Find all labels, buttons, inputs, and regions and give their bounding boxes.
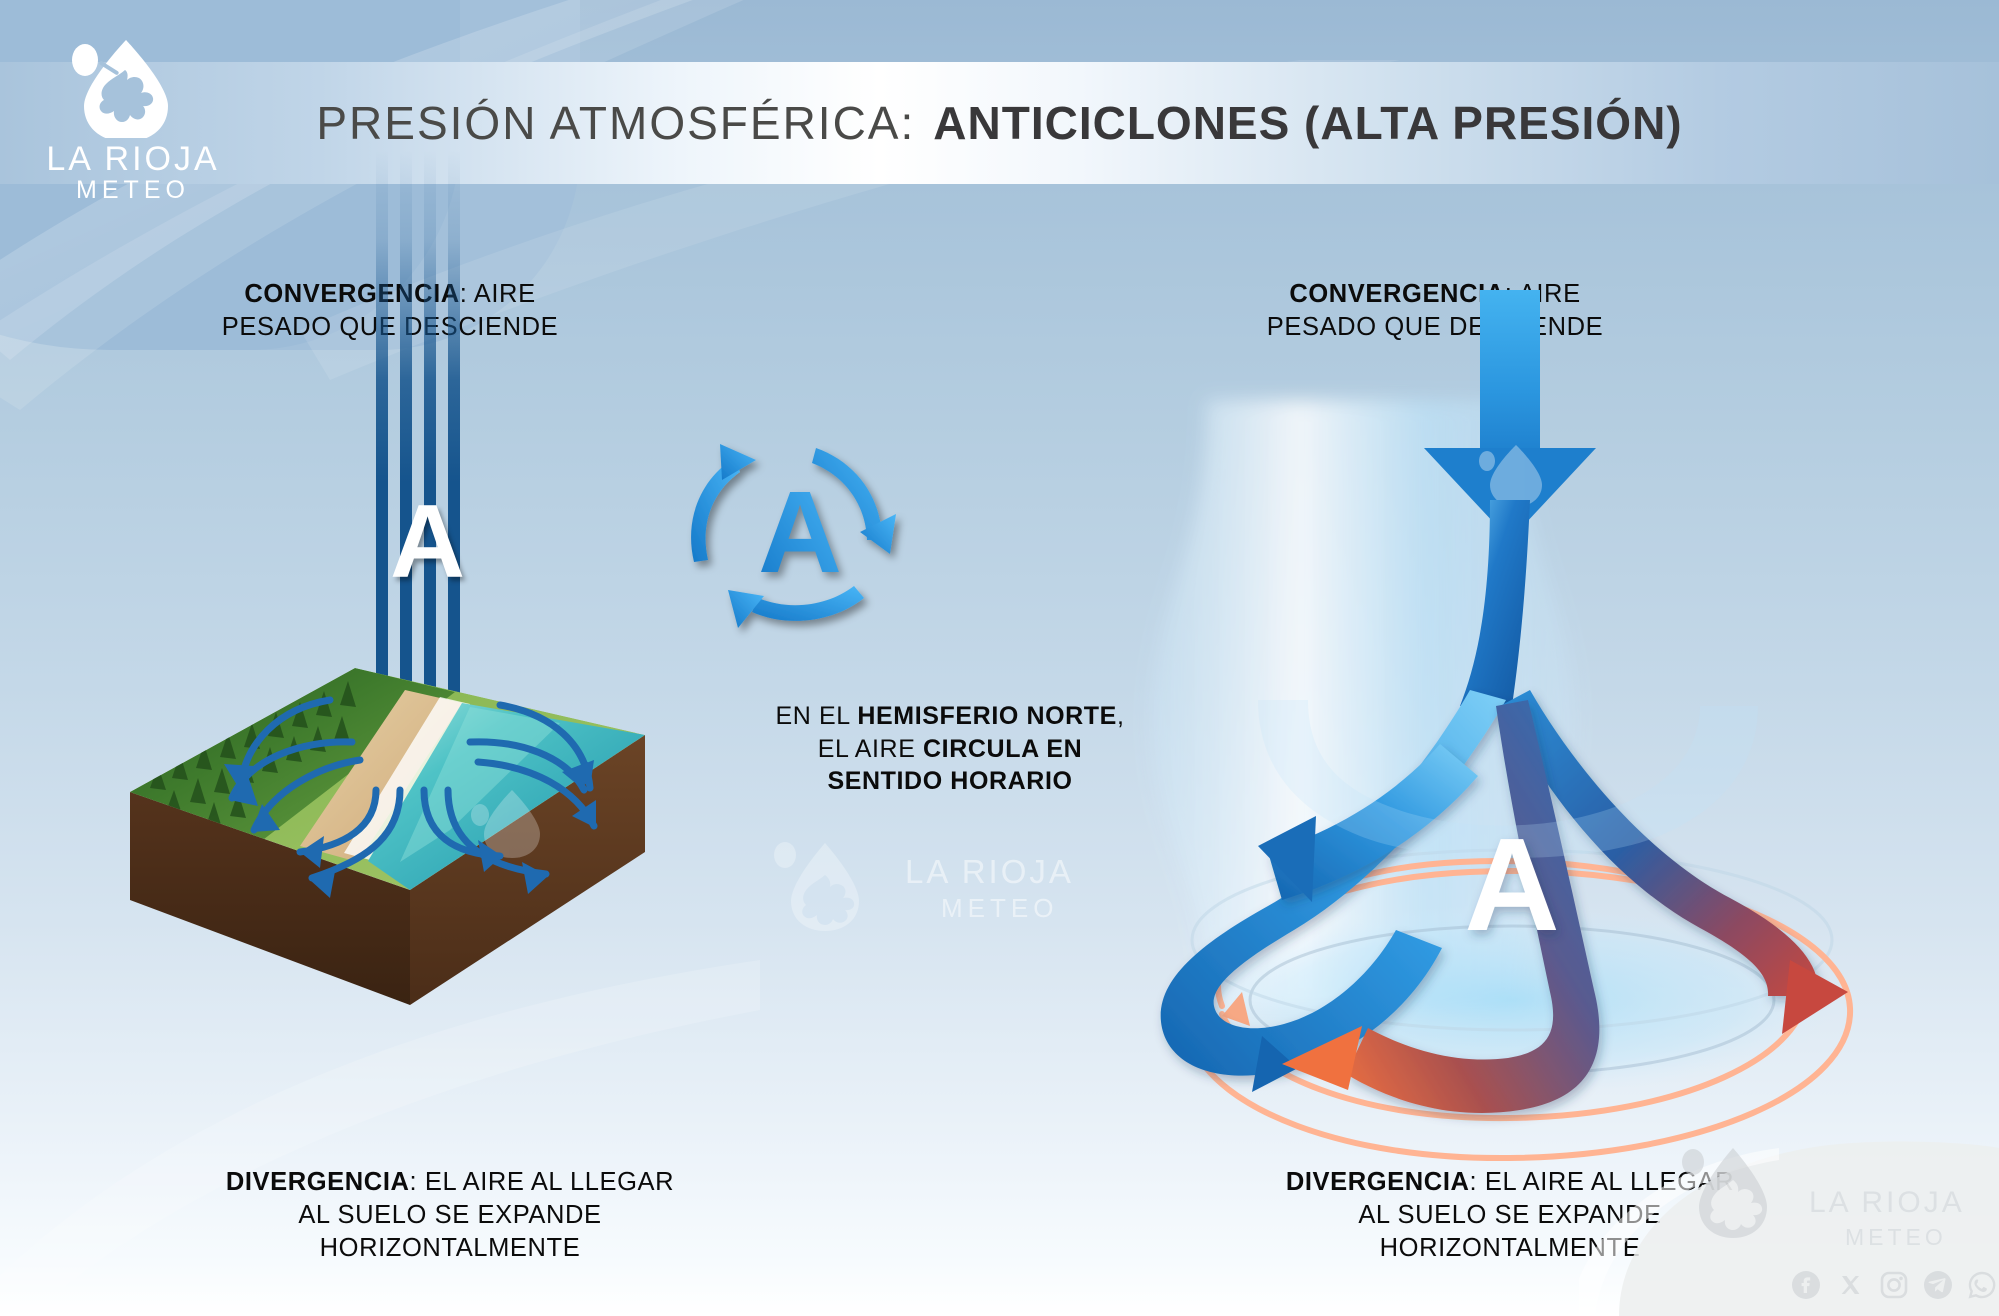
- instagram-icon[interactable]: [1879, 1270, 1909, 1300]
- divergence-arrow-right: [1500, 690, 1818, 996]
- watermark-drop-icon: [755, 835, 895, 945]
- swirl-ring-arrowheads: [1192, 992, 1250, 1058]
- x-twitter-icon[interactable]: [1835, 1270, 1865, 1300]
- anticyclone-letter-right: A: [1464, 811, 1559, 958]
- water-drop-grape-leaf-icon: [18, 18, 248, 138]
- center-line2-plain: EL AIRE: [818, 735, 923, 763]
- divergence-arrow-left: [1161, 690, 1506, 1076]
- convergence-line2-left: PESADO QUE DESCIENDE: [222, 313, 559, 341]
- corner-watermark: LA RIOJA METEO: [1661, 1134, 1991, 1314]
- terrain-watermark: [471, 790, 540, 858]
- divergence-line2-left: AL SUELO SE EXPANDE: [298, 1201, 601, 1229]
- center-line1-plain: EN EL: [775, 702, 857, 730]
- shaft-watermark-icon: [1479, 445, 1542, 507]
- center-watermark: LA RIOJA METEO: [755, 835, 1105, 950]
- telegram-icon[interactable]: [1923, 1270, 1953, 1300]
- divergence-label-right: DIVERGENCIA: [1286, 1168, 1470, 1196]
- divergence-arrowhead-left-inner: [1252, 1036, 1298, 1092]
- descending-stream-2: [400, 150, 412, 790]
- center-watermark-name: LA RIOJA: [905, 853, 1074, 891]
- center-line3-bold: SENTIDO HORARIO: [827, 767, 1072, 795]
- divergence-arrow-upper-left: [1268, 744, 1478, 900]
- convergence-label-right: CONVERGENCIA: [1289, 280, 1504, 308]
- anticyclone-rotation-symbol: A: [660, 420, 940, 640]
- divergence-arrowhead-bottom: [1282, 1026, 1362, 1090]
- descending-stream-4: [448, 150, 460, 790]
- base-disc: [1182, 904, 1842, 1096]
- convergence-rest-right: : AIRE: [1505, 280, 1581, 308]
- infographic-canvas: PRESIÓN ATMOSFÉRICA: ANTICICLONES (ALTA …: [0, 0, 1999, 1316]
- divergence-arrow-bottom: [1346, 700, 1599, 1113]
- page-title: PRESIÓN ATMOSFÉRICA: ANTICICLONES (ALTA …: [0, 62, 1999, 184]
- divergence-rest-left: : EL AIRE AL LLEGAR: [410, 1168, 675, 1196]
- convergence-rest-left: : AIRE: [460, 280, 536, 308]
- title-bold-part: ANTICICLONES (ALTA PRESIÓN): [933, 96, 1682, 150]
- center-line2-bold: CIRCULA EN: [923, 735, 1082, 763]
- corner-watermark-sub: METEO: [1845, 1224, 1947, 1251]
- facebook-icon[interactable]: [1791, 1270, 1821, 1300]
- base-ring-inner: [1250, 926, 1774, 1074]
- social-links: [1791, 1270, 1997, 1300]
- title-regular-part: PRESIÓN ATMOSFÉRICA:: [316, 96, 915, 150]
- base-ring-mid: [1192, 850, 1832, 1030]
- divergence-arrows-left: [232, 700, 594, 878]
- descending-stream-3: [424, 150, 436, 790]
- divergence-label-left: DIVERGENCIA: [226, 1168, 410, 1196]
- center-watermark-sub: METEO: [941, 893, 1058, 924]
- corner-watermark-drop-icon: [1661, 1134, 1791, 1254]
- clockwise-arrows-icon: A: [660, 420, 940, 640]
- convergence-line2-right: PESADO QUE DESCIENDE: [1267, 313, 1604, 341]
- center-line1-bold: HEMISFERIO NORTE: [857, 702, 1117, 730]
- brand-name: LA RIOJA: [18, 140, 248, 179]
- column-glass-overlay: [1258, 700, 1758, 858]
- air-column-glow: [1150, 400, 1576, 1010]
- divergence-line3-left: HORIZONTALMENTE: [320, 1234, 581, 1262]
- descending-arrowhead: [1424, 448, 1596, 540]
- descending-stream-1: [376, 150, 388, 790]
- brand-subtitle: METEO: [18, 176, 248, 205]
- divergence-arrowhead-upper-left: [1258, 816, 1316, 902]
- whatsapp-icon[interactable]: [1967, 1270, 1997, 1300]
- corner-watermark-name: LA RIOJA: [1809, 1186, 1965, 1220]
- center-trunk: [1460, 500, 1530, 706]
- center-line1-tail: ,: [1117, 702, 1125, 730]
- anticyclone-letter-center: A: [758, 467, 842, 597]
- caption-convergence-right: CONVERGENCIA: AIRE PESADO QUE DESCIENDE: [1175, 278, 1695, 344]
- divergence-arrowhead-right: [1782, 960, 1848, 1034]
- caption-convergence-left: CONVERGENCIA: AIRE PESADO QUE DESCIENDE: [130, 278, 650, 344]
- anticyclone-letter-left: A: [390, 490, 465, 594]
- brand-logo: LA RIOJA METEO: [18, 18, 248, 198]
- caption-rotation-center: EN EL HEMISFERIO NORTE, EL AIRE CIRCULA …: [740, 700, 1160, 798]
- caption-divergence-left: DIVERGENCIA: EL AIRE AL LLEGAR AL SUELO …: [140, 1166, 760, 1265]
